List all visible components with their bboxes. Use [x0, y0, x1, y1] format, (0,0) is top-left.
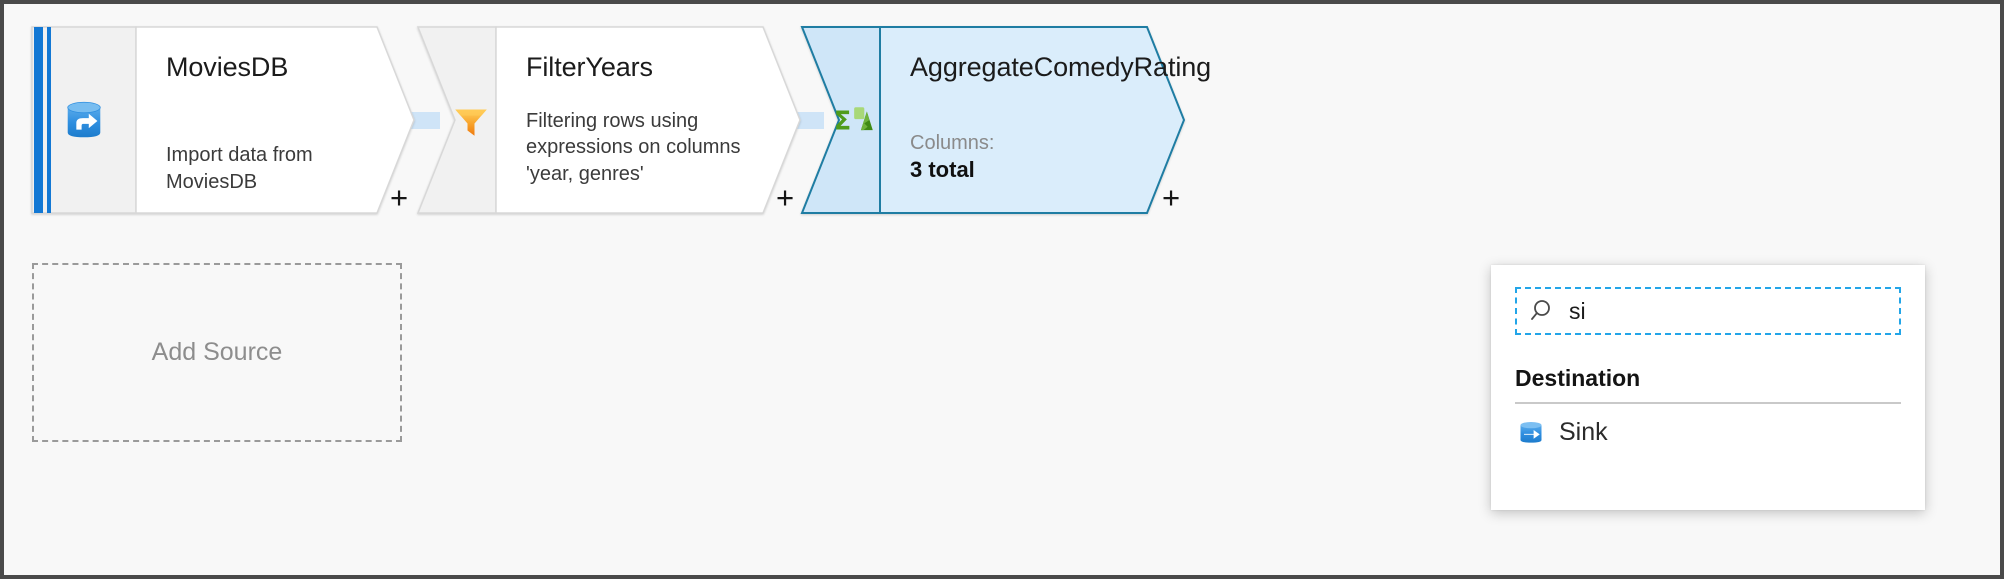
- search-icon: [1529, 296, 1559, 326]
- add-after-filteryears-button[interactable]: +: [770, 182, 800, 212]
- search-input[interactable]: si: [1515, 287, 1901, 335]
- sink-icon: [1517, 419, 1545, 447]
- dataflow-canvas-screen: MoviesDB Import data from MoviesDB +: [0, 0, 2004, 579]
- node-filteryears[interactable]: FilterYears Filtering rows using express…: [418, 27, 800, 213]
- add-step-panel: si Destination: [1491, 265, 1925, 510]
- add-after-moviesdb-button[interactable]: +: [384, 182, 414, 212]
- add-source-placeholder[interactable]: Add Source: [32, 263, 402, 442]
- node-shape: [32, 27, 414, 213]
- node-shape: [418, 27, 800, 213]
- node-aggregatecomedyrating[interactable]: Σ AggregateComedyRating Columns: 3 total: [802, 27, 1184, 213]
- dataflow-canvas[interactable]: MoviesDB Import data from MoviesDB +: [4, 4, 2000, 575]
- panel-section-title-destination: Destination: [1515, 365, 1901, 404]
- node-shape: [802, 27, 1184, 213]
- panel-item-sink[interactable]: Sink: [1515, 404, 1901, 461]
- add-after-aggregate-button[interactable]: +: [1156, 182, 1186, 212]
- add-source-label: Add Source: [152, 338, 283, 367]
- search-input-value: si: [1569, 300, 1586, 323]
- node-moviesdb[interactable]: MoviesDB Import data from MoviesDB: [32, 27, 414, 213]
- panel-item-label: Sink: [1559, 418, 1608, 447]
